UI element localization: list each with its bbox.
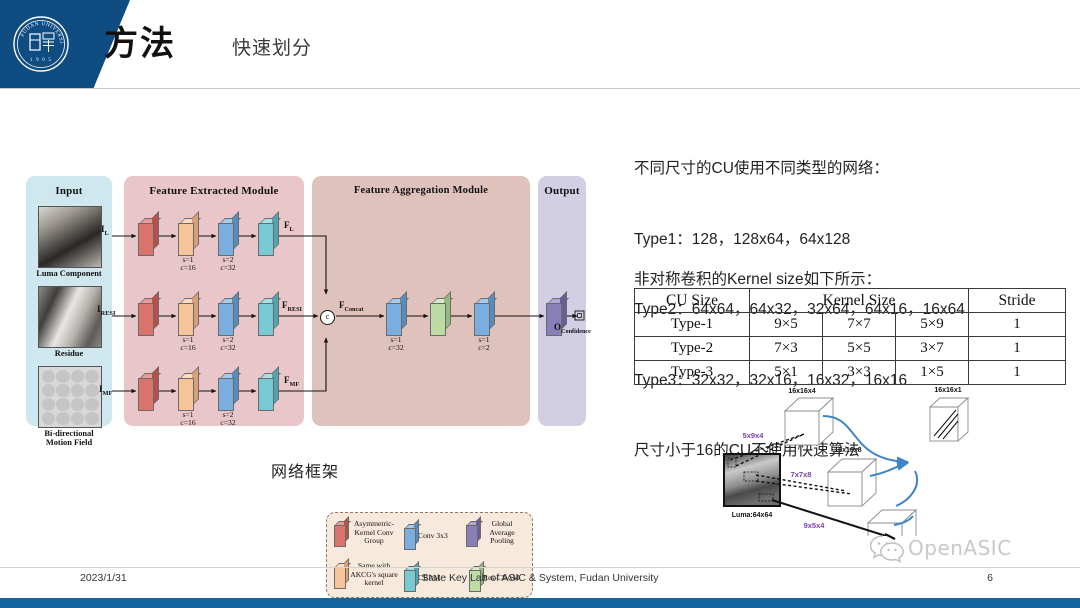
footer-page-number: 6 [975,572,1005,584]
signal-sub: MF [103,390,113,397]
agg-param-1: s=1c=32 [381,336,411,353]
legend-label: Conv 3x3 [418,532,448,541]
cell-stride: 1 [969,313,1066,337]
kernel-size-table: CU Size Kernel Size Stride Type-1 9×5 7×… [634,288,1066,385]
th-cu-size: CU Size [635,289,750,313]
thumbnail-residue [38,286,102,348]
panel-fem-title: Feature Extracted Module [124,185,304,197]
legend-label: Asymmetric-Kernel Conv Group [348,520,400,546]
thumbnail-residue-label: Residue [26,349,112,358]
description-type1: Type1：128，128x64，64x128 [634,228,1074,252]
slide-header: FUDAN UNIVERSITY 1 9 0 5 方法 快速划分 [0,0,1080,88]
legend-label: Global Average Pooling [480,520,524,546]
legend-swatch-blue-icon [404,524,414,548]
illus-kernel-2: 7x7x8 [791,470,812,479]
cell-kernel: 9×5 [750,313,823,337]
cell-kernel: 3×7 [896,337,969,361]
feature-label-residue: FRESI [282,300,302,313]
signal-label-luma: IL [101,224,109,237]
slide: FUDAN UNIVERSITY 1 9 0 5 方法 快速划分 不同尺寸的CU… [0,0,1080,608]
branch2-param-2: s=2c=32 [213,336,243,353]
table-caption: 非对称卷积的Kernel size如下所示： [634,267,881,289]
cell-kernel: 7×7 [823,313,896,337]
brand-label: OpenASIC [908,536,1012,560]
panel-input-title: Input [26,185,112,197]
output-confidence-label: OConfidence [554,322,591,335]
branch3-param-2: s=2c=32 [213,411,243,428]
legend-item-gap: Global Average Pooling [466,520,524,546]
concat-node: c [320,310,335,325]
legend-swatch-purple-icon [466,521,476,545]
illus-label-cube2: 16x16x8 [834,447,861,454]
figure-caption: 网络框架 [180,458,430,482]
signal-label-mf: IMF [99,384,112,397]
th-stride: Stride [969,289,1066,313]
illustration-svg: 16x16x4 16x16x8 16x16x1 Luma:64x64 5x9x4… [700,376,1080,536]
svg-text:1 9 0 5: 1 9 0 5 [30,58,52,63]
cell-kernel: 7×3 [750,337,823,361]
th-kernel-size: Kernel Size [750,289,969,313]
motion-field-grid-icon [39,367,101,427]
concat-feature-label: FConcat [339,300,363,313]
kernel-illustration: 16x16x4 16x16x8 16x16x1 Luma:64x64 5x9x4… [700,376,1080,536]
illus-kernel-3: 9x5x4 [804,521,826,530]
thumbnail-mf-label-2: Motion Field [26,438,112,447]
cell-kernel: 5×5 [823,337,896,361]
feature-label-luma: FL [284,220,294,233]
signal-sub: RESI [101,310,116,317]
page-subtitle: 快速划分 [232,34,312,64]
branch3-param-1: s=1c=16 [173,411,203,428]
footer-organization: State Key Lab of ASIC & System, Fudan Un… [0,572,1080,584]
illus-label-source: Luma:64x64 [732,512,773,519]
branch1-param-2: s=2c=32 [213,256,243,273]
thumbnail-luma [38,206,102,268]
header-divider [0,88,1080,89]
cell-cu: Type-1 [635,313,750,337]
openasic-brand: OpenASIC [868,532,1018,572]
description-intro: 不同尺寸的CU使用不同类型的网络： [634,157,1074,181]
bottom-accent-bar [0,598,1080,608]
legend-item-akcg: Asymmetric-Kernel Conv Group [334,520,400,546]
illus-label-cube3: 16x16x1 [934,387,961,394]
feature-label-mf: FMF [284,375,299,388]
panel-output-title: Output [538,185,586,197]
agg-param-2: s=1c=2 [469,336,499,353]
table-row: Type-2 7×3 5×5 3×7 1 [635,337,1066,361]
wechat-bubble-icon [868,532,908,566]
page-title: 方法 [104,22,176,66]
branch1-param-1: s=1c=16 [173,256,203,273]
legend-item-conv: Conv 3x3 [404,524,456,548]
legend-swatch-red-icon [334,521,344,545]
thumbnail-motion-field [38,366,102,428]
signal-label-residue: IRESI [97,304,115,317]
cell-kernel: 5×9 [896,313,969,337]
fudan-university-seal-icon: FUDAN UNIVERSITY 1 9 0 5 [11,14,71,74]
thumbnail-luma-label: Luma Component [26,269,112,278]
cell-stride: 1 [969,337,1066,361]
signal-sub: L [105,230,109,237]
table-header-row: CU Size Kernel Size Stride [635,289,1066,313]
network-architecture-figure: Input Feature Extracted Module Feature A… [26,176,586,426]
illus-label-cube1: 16x16x4 [788,388,815,395]
cell-cu: Type-2 [635,337,750,361]
thumbnail-mf-label-1: Bi-directional [26,429,112,438]
illus-kernel-1: 5x9x4 [743,431,765,440]
branch2-param-1: s=1c=16 [173,336,203,353]
panel-fam-title: Feature Aggregation Module [312,185,530,196]
table-row: Type-1 9×5 7×7 5×9 1 [635,313,1066,337]
